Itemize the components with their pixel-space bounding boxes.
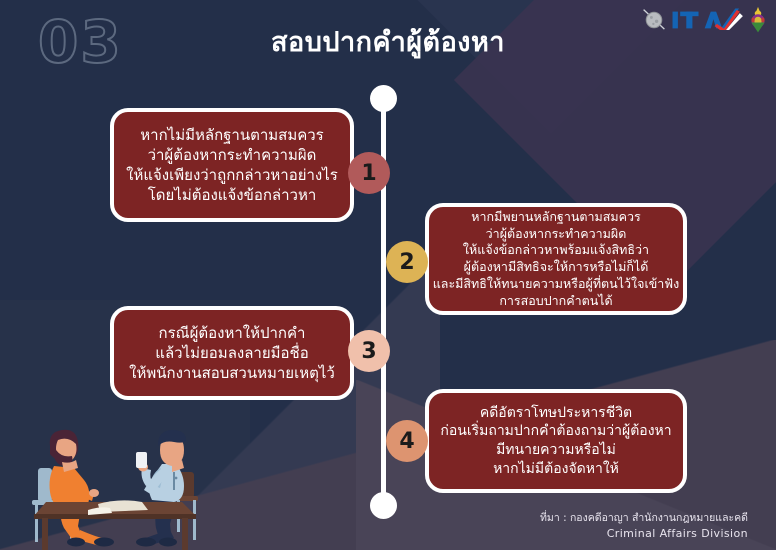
step-2-line-3: ให้แจ้งข้อกล่าวหาพร้อมแจ้งสิทธิว่า [463, 242, 649, 259]
infographic-slide: 03 สอบปากคำผู้ต้องหา [0, 0, 776, 550]
step-box-4: คดีอัตราโทษประหารชีวิต ก่อนเริ่มถามปากคำ… [425, 389, 687, 493]
step-3-line-2: แล้วไม่ยอมลงลายมือชื่อ [155, 343, 308, 363]
shield-emblem-icon [641, 7, 667, 33]
step-4-line-4: หากไม่มีต้องจัดหาให้ [493, 460, 619, 479]
footer-source-english: Criminal Affairs Division [540, 526, 748, 542]
step-marker-4[interactable]: 4 [386, 420, 428, 462]
logo-group [641, 6, 768, 34]
ita-logo [671, 7, 744, 33]
step-marker-1[interactable]: 1 [348, 152, 390, 194]
footer-source: ที่มา : กองคดีอาญา สำนักงานกฎหมายและคดี … [540, 511, 748, 542]
step-box-2: หากมีพยานหลักฐานตามสมควร ว่าผู้ต้องหากระ… [425, 203, 687, 315]
step-1-line-4: โดยไม่ต้องแจ้งข้อกล่าวหา [148, 185, 317, 205]
step-3-line-1: กรณีผู้ต้องหาให้ปากคำ [159, 323, 306, 343]
step-1-line-2: ว่าผู้ต้องหากระทำความผิด [148, 145, 317, 165]
step-2-line-4: ผู้ต้องหามีสิทธิจะให้การหรือไม่ก็ได้ [464, 259, 649, 276]
step-box-1: หากไม่มีหลักฐานตามสมควร ว่าผู้ต้องหากระท… [110, 108, 354, 222]
step-1-line-1: หากไม่มีหลักฐานตามสมควร [140, 125, 323, 145]
step-1-line-3: ให้แจ้งเพียงว่าถูกกล่าวหาอย่างไร [126, 165, 338, 185]
garuda-emblem-icon [748, 6, 768, 34]
timeline-cap-top [370, 85, 397, 112]
suspect-figure [50, 430, 115, 547]
step-4-line-1: คดีอัตราโทษประหารชีวิต [480, 404, 632, 423]
step-3-line-3: ให้พนักงานสอบสวนหมายเหตุไว้ [129, 363, 335, 383]
step-marker-2[interactable]: 2 [386, 241, 428, 283]
footer-source-thai: ที่มา : กองคดีอาญา สำนักงานกฎหมายและคดี [540, 511, 748, 526]
step-2-line-1: หากมีพยานหลักฐานตามสมควร [471, 209, 640, 226]
step-marker-3[interactable]: 3 [348, 330, 390, 372]
interrogation-scene-illustration [10, 420, 225, 550]
step-2-line-5: และมีสิทธิให้ทนายความหรือผู้ที่ตนไว้ใจเข… [433, 276, 680, 293]
step-4-line-3: มีทนายความหรือไม่ [496, 441, 616, 460]
timeline-cap-bottom [370, 492, 397, 519]
step-box-3: กรณีผู้ต้องหาให้ปากคำ แล้วไม่ยอมลงลายมือ… [110, 306, 354, 400]
step-2-line-6: การสอบปากคำตนได้ [499, 293, 612, 310]
step-2-line-2: ว่าผู้ต้องหากระทำความผิด [486, 226, 627, 243]
step-4-line-2: ก่อนเริ่มถามปากคำต้องถามว่าผู้ต้องหา [440, 422, 671, 441]
